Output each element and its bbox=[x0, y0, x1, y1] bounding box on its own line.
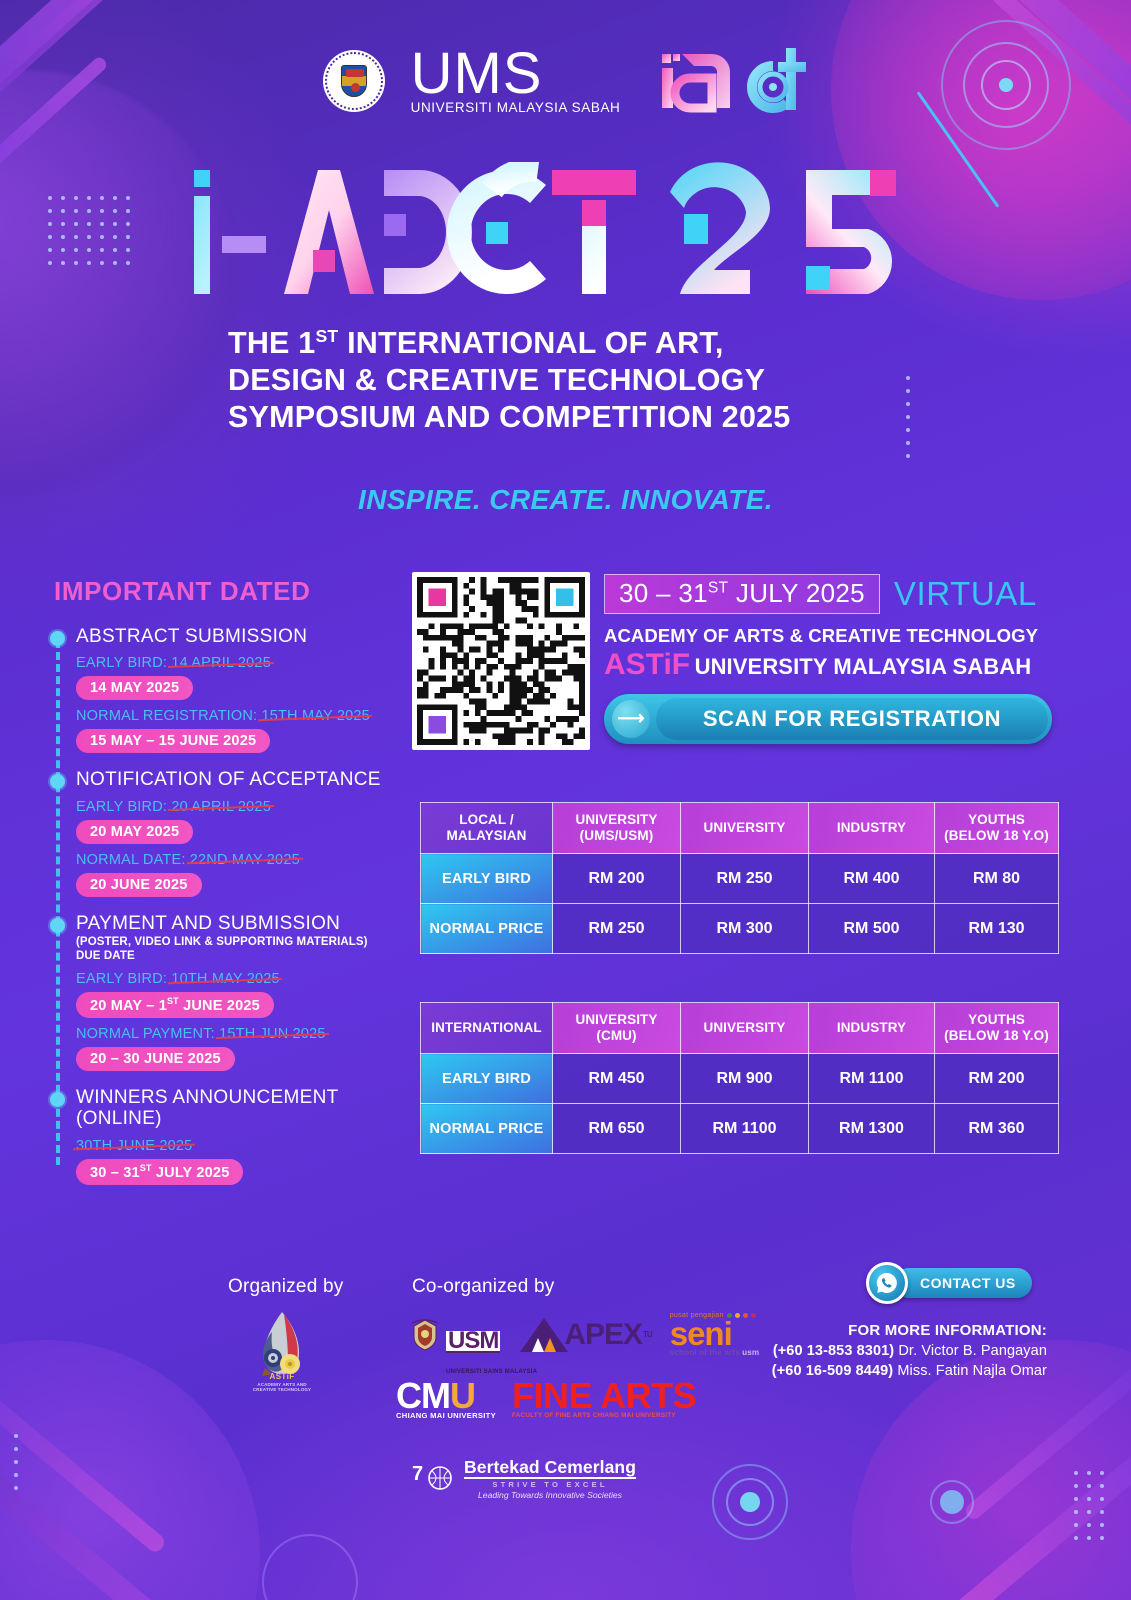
decor-dot bbox=[740, 1492, 760, 1512]
decor-streak bbox=[963, 1362, 1131, 1522]
astif-logo-icon bbox=[252, 1310, 310, 1380]
ums-sub-text: UNIVERSITI MALAYSIA SABAH bbox=[411, 102, 621, 114]
table-column-header: UNIVERSITY(UMS/USM) bbox=[553, 803, 681, 854]
timeline-new-date-pill: 20 – 30 JUNE 2025 bbox=[76, 1047, 235, 1071]
table-corner-header: INTERNATIONAL bbox=[421, 1003, 553, 1054]
coorganizer-logos-row-1: USM UNIVERSITI SAINS MALAYSIA APEXTU pus… bbox=[408, 1312, 759, 1357]
timeline-new-date-pill: 20 MAY 2025 bbox=[76, 820, 193, 844]
table-column-header: YOUTHS(BELOW 18 Y.O) bbox=[935, 803, 1059, 854]
table-price-cell: RM 200 bbox=[935, 1054, 1059, 1104]
timeline-heading: NOTIFICATION OF ACCEPTANCE bbox=[76, 769, 410, 790]
decor-blob-bottom-right bbox=[851, 1340, 1131, 1600]
bertekad-logo-icon: 7 Bertekad Cemerlang STRIVE TO EXCEL Lea… bbox=[412, 1458, 636, 1500]
decor-streak bbox=[939, 1424, 1131, 1600]
timeline-heading: PAYMENT AND SUBMISSION bbox=[76, 913, 410, 934]
timeline-new-date-pill: 15 MAY – 15 JUNE 2025 bbox=[76, 729, 270, 753]
timeline-heading: WINNERS ANNOUNCEMENT(ONLINE) bbox=[76, 1087, 410, 1130]
cmu-caption: CHIANG MAI UNIVERSITY bbox=[396, 1412, 496, 1420]
bertekad-title: Bertekad Cemerlang bbox=[464, 1458, 636, 1479]
cmu-logo-icon: CMU CHIANG MAI UNIVERSITY bbox=[396, 1378, 496, 1420]
event-subtitle: THE 1ST INTERNATIONAL OF ART, DESIGN & C… bbox=[228, 325, 908, 437]
cmu-wordmark: CMU bbox=[396, 1378, 496, 1414]
table-price-cell: RM 250 bbox=[681, 854, 809, 904]
timeline-item: WINNERS ANNOUNCEMENT(ONLINE)30TH JUNE 20… bbox=[50, 1087, 410, 1184]
table-price-cell: RM 250 bbox=[553, 904, 681, 954]
ums-main-text: UMS bbox=[411, 48, 621, 100]
timeline-date-row: NORMAL DATE: 22ND MAY 202520 JUNE 2025 bbox=[76, 852, 410, 897]
event-mode: VIRTUAL bbox=[894, 575, 1037, 613]
timeline-old-date: NORMAL PAYMENT: 15TH JUN 2025 bbox=[76, 1026, 410, 1042]
timeline-old-date: EARLY BIRD: 10TH MAY 2025 bbox=[76, 971, 410, 987]
qr-code-icon[interactable] bbox=[412, 572, 590, 750]
astif-university-line: ASTiF UNIVERSITY MALAYSIA SABAH bbox=[604, 648, 1064, 681]
fine-arts-caption: FACULTY OF FINE ARTS CHIANG MAI UNIVERSI… bbox=[512, 1413, 696, 1419]
decor-dot-grid bbox=[1074, 1471, 1104, 1540]
subtitle-line1-post: INTERNATIONAL OF ART, bbox=[338, 326, 723, 360]
astif-logo-name: ASTiF bbox=[270, 1372, 295, 1381]
whatsapp-icon bbox=[866, 1262, 908, 1304]
event-date-pre: 30 – 31 bbox=[619, 578, 708, 608]
decor-ring bbox=[262, 1534, 358, 1600]
seni-sub-text: school of the arts usm bbox=[670, 1349, 760, 1357]
timeline-date-row: EARLY BIRD: 20 APRIL 202520 MAY 2025 bbox=[76, 799, 410, 844]
organized-by-label: Organized by bbox=[228, 1276, 343, 1298]
table-row-header: EARLY BIRD bbox=[421, 1054, 553, 1104]
decor-streak bbox=[0, 1442, 193, 1600]
subtitle-line-3: SYMPOSIUM AND COMPETITION 2025 bbox=[228, 399, 908, 436]
poster-root: UMS UNIVERSITI MALAYSIA SABAH bbox=[0, 0, 1131, 1600]
table-price-cell: RM 300 bbox=[681, 904, 809, 954]
timeline-note: (POSTER, VIDEO LINK & SUPPORTING MATERIA… bbox=[76, 936, 410, 964]
table-row-header: NORMAL PRICE bbox=[421, 1104, 553, 1154]
timeline-date-row: 30TH JUNE 202530 – 31ST JULY 2025 bbox=[76, 1138, 410, 1185]
timeline-date-row: NORMAL PAYMENT: 15TH JUN 202520 – 30 JUN… bbox=[76, 1026, 410, 1071]
table-price-cell: RM 80 bbox=[935, 854, 1059, 904]
subtitle-line1-pre: THE 1 bbox=[228, 326, 315, 360]
decor-dot-grid bbox=[14, 1434, 18, 1490]
svg-text:7: 7 bbox=[412, 1463, 423, 1485]
timeline-date-row: NORMAL REGISTRATION: 15TH MAY 202515 MAY… bbox=[76, 708, 410, 753]
astif-abbrev: ASTiF bbox=[604, 648, 690, 681]
table-column-header: UNIVERSITY bbox=[681, 1003, 809, 1054]
apex-logo-icon: APEXTU bbox=[518, 1316, 651, 1354]
more-information-block: FOR MORE INFORMATION: (+60 13-853 8301) … bbox=[772, 1322, 1047, 1379]
timeline-date-row: EARLY BIRD: 10TH MAY 202520 MAY – 1ST JU… bbox=[76, 971, 410, 1018]
apex-wordmark: APEX bbox=[564, 1318, 642, 1352]
table-row: EARLY BIRDRM 200RM 250RM 400RM 80 bbox=[421, 854, 1059, 904]
fine-arts-wordmark: FINE ARTS bbox=[512, 1378, 696, 1414]
table-price-cell: RM 900 bbox=[681, 1054, 809, 1104]
usm-wordmark: USM bbox=[446, 1331, 500, 1353]
decor-ring bbox=[930, 1480, 974, 1524]
table-column-header: UNIVERSITY bbox=[681, 803, 809, 854]
seni-logo-icon: pusat pengajian seni school of the arts … bbox=[670, 1312, 760, 1357]
timeline-old-date: NORMAL REGISTRATION: 15TH MAY 2025 bbox=[76, 708, 410, 724]
contact-us-label: CONTACT US bbox=[920, 1275, 1016, 1291]
important-dates-timeline: ABSTRACT SUBMISSIONEARLY BIRD: 14 APRIL … bbox=[50, 626, 410, 1201]
university-name: UNIVERSITY MALAYSIA SABAH bbox=[695, 654, 1032, 679]
arrow-right-icon: ⟶ bbox=[612, 700, 650, 738]
timeline-old-date: NORMAL DATE: 22ND MAY 2025 bbox=[76, 852, 410, 868]
table-price-cell: RM 1300 bbox=[809, 1104, 935, 1154]
table-row: NORMAL PRICERM 650RM 1100RM 1300RM 360 bbox=[421, 1104, 1059, 1154]
bertekad-leading: Leading Towards Innovative Societies bbox=[464, 1491, 636, 1500]
event-date-post: JULY 2025 bbox=[728, 578, 864, 608]
table-row: EARLY BIRDRM 450RM 900RM 1100RM 200 bbox=[421, 1054, 1059, 1104]
scan-button-label: SCAN FOR REGISTRATION bbox=[703, 706, 1001, 732]
usm-logo-icon: USM UNIVERSITI SAINS MALAYSIA bbox=[408, 1317, 500, 1353]
table-price-cell: RM 450 bbox=[553, 1054, 681, 1104]
contact-line: (+60 16-509 8449) Miss. Fatin Najla Omar bbox=[772, 1363, 1047, 1379]
header-logos: UMS UNIVERSITI MALAYSIA SABAH bbox=[0, 48, 1131, 114]
timeline-dot-icon bbox=[50, 631, 65, 646]
contact-us-label-pill: CONTACT US bbox=[894, 1268, 1032, 1298]
event-date-row: 30 – 31ST JULY 2025 VIRTUAL bbox=[604, 574, 1064, 614]
timeline-old-date: EARLY BIRD: 20 APRIL 2025 bbox=[76, 799, 410, 815]
seni-wordmark: seni bbox=[670, 1317, 760, 1350]
academy-name: ACADEMY OF ARTS & CREATIVE TECHNOLOGY bbox=[604, 625, 1064, 646]
table-column-header: INDUSTRY bbox=[809, 1003, 935, 1054]
table-price-cell: RM 130 bbox=[935, 904, 1059, 954]
table-corner-header: LOCAL /MALAYSIAN bbox=[421, 803, 553, 854]
bertekad-strive: STRIVE TO EXCEL bbox=[464, 1481, 636, 1489]
event-date-ordinal: ST bbox=[708, 579, 729, 596]
table-column-header: INDUSTRY bbox=[809, 803, 935, 854]
timeline-old-date: EARLY BIRD: 14 APRIL 2025 bbox=[76, 655, 410, 671]
table-column-header: UNIVERSITY(CMU) bbox=[553, 1003, 681, 1054]
table-row-header: EARLY BIRD bbox=[421, 854, 553, 904]
timeline-item: ABSTRACT SUBMISSIONEARLY BIRD: 14 APRIL … bbox=[50, 626, 410, 753]
decor-ring bbox=[712, 1464, 788, 1540]
decor-blob-bottom-left bbox=[0, 1340, 260, 1600]
table-price-cell: RM 200 bbox=[553, 854, 681, 904]
subtitle-ordinal: ST bbox=[315, 326, 338, 346]
timeline-heading: ABSTRACT SUBMISSION bbox=[76, 626, 410, 647]
timeline-dot-icon bbox=[50, 774, 65, 789]
timeline-new-date-pill: 14 MAY 2025 bbox=[76, 676, 193, 700]
timeline-new-date-pill: 30 – 31ST JULY 2025 bbox=[76, 1159, 243, 1185]
timeline-item: PAYMENT AND SUBMISSION(POSTER, VIDEO LIN… bbox=[50, 913, 410, 1072]
timeline-new-date-pill: 20 MAY – 1ST JUNE 2025 bbox=[76, 992, 274, 1018]
decor-dot bbox=[940, 1490, 964, 1514]
table-column-header: YOUTHS(BELOW 18 Y.O) bbox=[935, 1003, 1059, 1054]
timeline-new-date-pill: 20 JUNE 2025 bbox=[76, 873, 202, 897]
astif-logo-caption: ASTiF ACADEMY ARTS AND CREATIVE TECHNOLO… bbox=[246, 1372, 318, 1392]
pricing-table-local: LOCAL /MALAYSIANUNIVERSITY(UMS/USM)UNIVE… bbox=[420, 802, 1059, 954]
pricing-table-international: INTERNATIONALUNIVERSITY(CMU)UNIVERSITYIN… bbox=[420, 1002, 1059, 1154]
contact-us-button[interactable]: CONTACT US bbox=[866, 1262, 1032, 1304]
ums-wordmark: UMS UNIVERSITI MALAYSIA SABAH bbox=[411, 48, 621, 114]
event-date-badge: 30 – 31ST JULY 2025 bbox=[604, 574, 880, 614]
apex-tm: TU bbox=[643, 1330, 652, 1339]
table-price-cell: RM 500 bbox=[809, 904, 935, 954]
table-price-cell: RM 360 bbox=[935, 1104, 1059, 1154]
subtitle-line-1: THE 1ST INTERNATIONAL OF ART, bbox=[228, 325, 908, 362]
event-tagline: INSPIRE. CREATE. INNOVATE. bbox=[0, 484, 1131, 516]
timeline-dot-icon bbox=[50, 1092, 65, 1107]
decor-streak bbox=[0, 1387, 168, 1555]
fine-arts-logo-icon: FINE ARTS FACULTY OF FINE ARTS CHIANG MA… bbox=[512, 1378, 696, 1419]
table-price-cell: RM 1100 bbox=[809, 1054, 935, 1104]
table-row-header: NORMAL PRICE bbox=[421, 904, 553, 954]
important-dates-title: IMPORTANT DATED bbox=[54, 576, 310, 607]
timeline-item: NOTIFICATION OF ACCEPTANCEEARLY BIRD: 20… bbox=[50, 769, 410, 896]
timeline-date-row: EARLY BIRD: 14 APRIL 202514 MAY 2025 bbox=[76, 655, 410, 700]
table-price-cell: RM 400 bbox=[809, 854, 935, 904]
iadct-monogram-icon bbox=[660, 48, 808, 114]
astif-logo-sub: ACADEMY ARTS AND CREATIVE TECHNOLOGY bbox=[246, 1382, 318, 1392]
more-info-title: FOR MORE INFORMATION: bbox=[772, 1322, 1047, 1339]
ums-crest-icon bbox=[323, 50, 385, 112]
timeline-old-date: 30TH JUNE 2025 bbox=[76, 1138, 410, 1154]
coorganized-by-label: Co-organized by bbox=[412, 1276, 554, 1298]
table-row: NORMAL PRICERM 250RM 300RM 500RM 130 bbox=[421, 904, 1059, 954]
coorganizer-logos-row-2: CMU CHIANG MAI UNIVERSITY FINE ARTS FACU… bbox=[396, 1378, 696, 1420]
table-price-cell: RM 650 bbox=[553, 1104, 681, 1154]
timeline-dot-icon bbox=[50, 918, 65, 933]
table-price-cell: RM 1100 bbox=[681, 1104, 809, 1154]
decor-ring bbox=[726, 1478, 774, 1526]
subtitle-line-2: DESIGN & CREATIVE TECHNOLOGY bbox=[228, 362, 908, 399]
contact-line: (+60 13-853 8301) Dr. Victor B. Pangayan bbox=[772, 1343, 1047, 1359]
event-info-block: 30 – 31ST JULY 2025 VIRTUAL ACADEMY OF A… bbox=[604, 574, 1064, 744]
scan-for-registration-button[interactable]: ⟶ SCAN FOR REGISTRATION bbox=[604, 694, 1052, 744]
bertekad-cemerlang-row: 7 Bertekad Cemerlang STRIVE TO EXCEL Lea… bbox=[412, 1458, 636, 1500]
page-title bbox=[0, 162, 1131, 302]
